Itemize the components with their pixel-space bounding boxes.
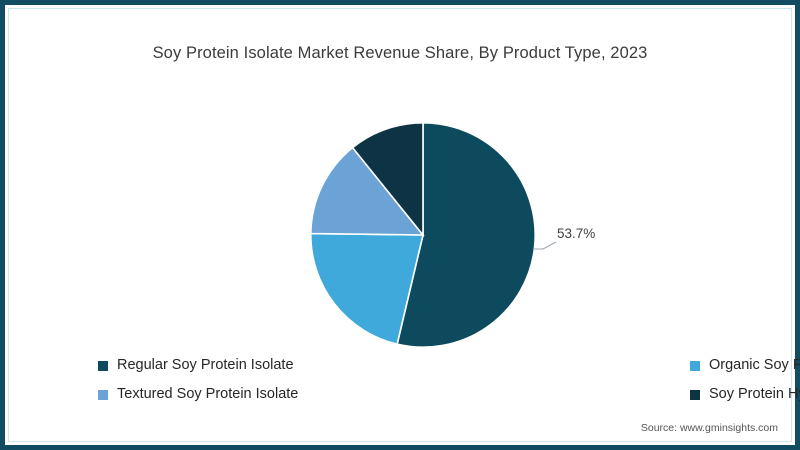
- pie-chart: [310, 122, 536, 348]
- legend: Regular Soy Protein Isolate Organic Soy …: [98, 358, 718, 416]
- legend-item-label: Textured Soy Protein Isolate: [117, 387, 298, 403]
- legend-row: Regular Soy Protein Isolate Organic Soy …: [98, 358, 718, 374]
- legend-swatch-icon: [690, 390, 700, 400]
- chart-canvas: Soy Protein Isolate Market Revenue Share…: [0, 0, 800, 450]
- legend-item-label: Organic Soy Protein Isolate: [709, 358, 800, 374]
- legend-swatch-icon: [98, 361, 108, 371]
- legend-item-textured-soy-protein-isolate[interactable]: Textured Soy Protein Isolate: [98, 387, 408, 403]
- legend-item-organic-soy-protein-isolate[interactable]: Organic Soy Protein Isolate: [408, 358, 718, 374]
- legend-item-soy-protein-hydrolysate[interactable]: Soy Protein Hydrolysate: [408, 387, 718, 403]
- page-title: Soy Protein Isolate Market Revenue Share…: [0, 44, 800, 63]
- pie-chart-svg: [310, 122, 536, 348]
- legend-item-regular-soy-protein-isolate[interactable]: Regular Soy Protein Isolate: [98, 358, 408, 374]
- callout-leader-line: [533, 240, 557, 250]
- legend-row: Textured Soy Protein Isolate Soy Protein…: [98, 387, 718, 403]
- slice-value-label-regular: 53.7%: [557, 226, 595, 241]
- legend-swatch-icon: [98, 390, 108, 400]
- source-credit: Source: www.gminsights.com: [641, 422, 778, 434]
- legend-item-label: Soy Protein Hydrolysate: [709, 387, 800, 403]
- legend-swatch-icon: [690, 361, 700, 371]
- legend-item-label: Regular Soy Protein Isolate: [117, 358, 294, 374]
